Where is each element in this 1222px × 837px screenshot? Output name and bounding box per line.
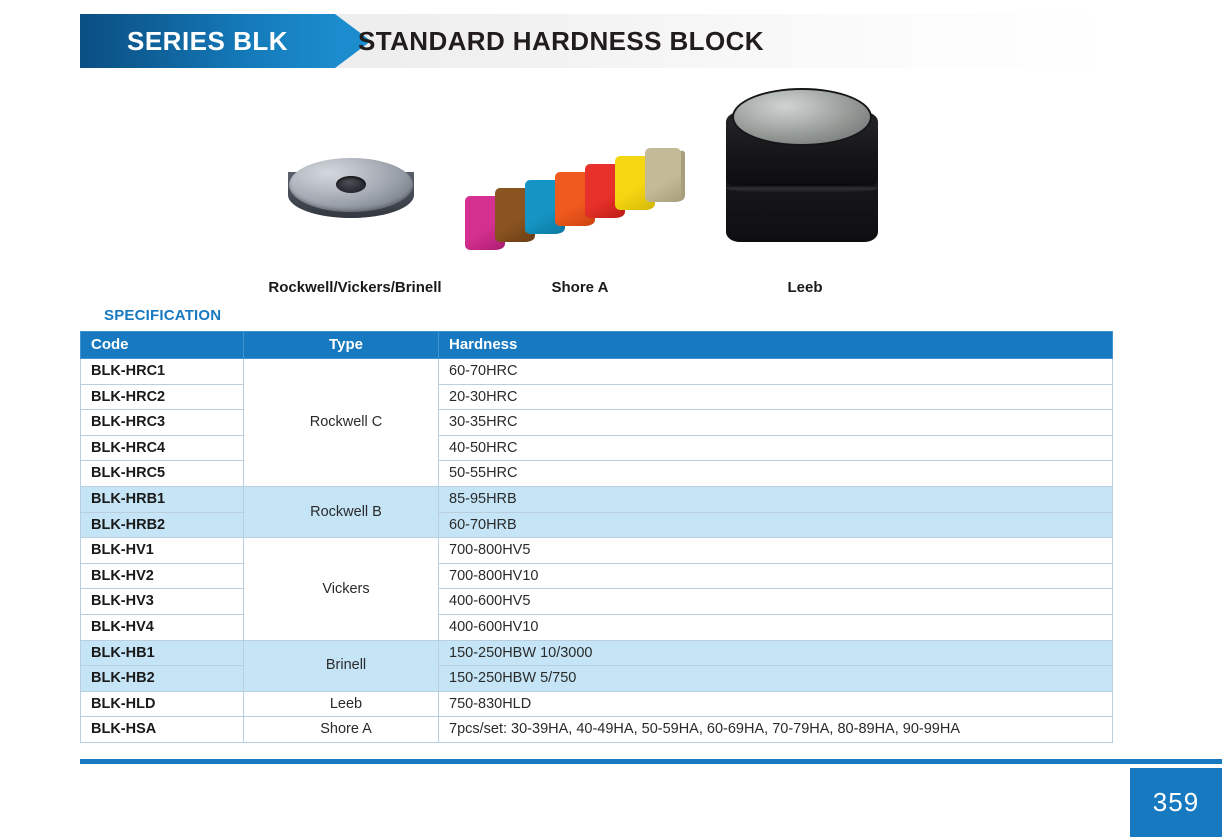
cell-hardness: 40-50HRC [439,435,1113,461]
table-row: BLK-HB1Brinell150-250HBW 10/3000 [81,640,1113,666]
cell-hardness: 20-30HRC [439,384,1113,410]
cell-code: BLK-HRC1 [81,359,244,385]
cell-type: Vickers [244,538,439,640]
table-row: BLK-HRC220-30HRC [81,384,1113,410]
cell-code: BLK-HRB2 [81,512,244,538]
table-row: BLK-HV1Vickers700-800HV5 [81,538,1113,564]
cell-code: BLK-HV3 [81,589,244,615]
column-header-code: Code [81,332,244,359]
cell-hardness: 150-250HBW 10/3000 [439,640,1113,666]
cell-code: BLK-HV4 [81,614,244,640]
cell-code: BLK-HB2 [81,666,244,692]
disc-center-hole [336,176,366,193]
cell-type: Leeb [244,691,439,717]
specification-heading: SPECIFICATION [104,307,221,324]
series-label: SERIES BLK [80,14,335,68]
table-row: BLK-HV4400-600HV10 [81,614,1113,640]
page-header-banner: SERIES BLK STANDARD HARDNESS BLOCK [80,14,1112,68]
cell-code: BLK-HB1 [81,640,244,666]
specification-table-container: Code Type Hardness BLK-HRC1Rockwell C60-… [80,331,1112,743]
leeb-polished-top-face [732,88,872,146]
leeb-groove [726,184,878,192]
leeb-block-image [720,82,890,257]
cell-code: BLK-HRC2 [81,384,244,410]
cell-hardness: 60-70HRB [439,512,1113,538]
table-row: BLK-HSAShore A7pcs/set: 30-39HA, 40-49HA… [81,717,1113,743]
cell-code: BLK-HV2 [81,563,244,589]
table-row: BLK-HRC330-35HRC [81,410,1113,436]
caption-rockwell-vickers-brinell: Rockwell/Vickers/Brinell [230,279,480,296]
cell-code: BLK-HRC5 [81,461,244,487]
cell-hardness: 700-800HV10 [439,563,1113,589]
table-body: BLK-HRC1Rockwell C60-70HRCBLK-HRC220-30H… [81,359,1113,743]
cell-code: BLK-HLD [81,691,244,717]
table-row: BLK-HRB1Rockwell B85-95HRB [81,486,1113,512]
page-number-text: 359 [1153,787,1199,818]
table-row: BLK-HLDLeeb750-830HLD [81,691,1113,717]
cell-type: Brinell [244,640,439,691]
table-row: BLK-HRC440-50HRC [81,435,1113,461]
page-number-badge: 359 [1130,768,1222,837]
table-row: BLK-HRB260-70HRB [81,512,1113,538]
cell-hardness: 7pcs/set: 30-39HA, 40-49HA, 50-59HA, 60-… [439,717,1113,743]
table-row: BLK-HRC550-55HRC [81,461,1113,487]
shore-a-block-set-image [465,144,695,249]
cell-code: BLK-HSA [81,717,244,743]
cell-hardness: 150-250HBW 5/750 [439,666,1113,692]
cell-hardness: 700-800HV5 [439,538,1113,564]
shore-a-block-7-face [645,148,681,202]
cell-code: BLK-HRC4 [81,435,244,461]
product-gallery: Rockwell/Vickers/Brinell Shore A Leeb [80,74,1112,304]
column-header-type: Type [244,332,439,359]
cell-type: Rockwell C [244,359,439,487]
cell-hardness: 400-600HV5 [439,589,1113,615]
caption-leeb: Leeb [730,279,880,296]
page-title: STANDARD HARDNESS BLOCK [358,14,764,68]
rockwell-vickers-brinell-block-image [280,150,428,242]
table-row: BLK-HV2700-800HV10 [81,563,1113,589]
footer-divider-rule [80,759,1222,764]
table-row: BLK-HB2150-250HBW 5/750 [81,666,1113,692]
shore-a-block-7 [645,148,687,202]
cell-code: BLK-HRC3 [81,410,244,436]
table-header-row: Code Type Hardness [81,332,1113,359]
cell-type: Shore A [244,717,439,743]
cell-code: BLK-HV1 [81,538,244,564]
specification-table: Code Type Hardness BLK-HRC1Rockwell C60-… [80,331,1113,743]
cell-type: Rockwell B [244,486,439,537]
cell-code: BLK-HRB1 [81,486,244,512]
cell-hardness: 50-55HRC [439,461,1113,487]
table-row: BLK-HRC1Rockwell C60-70HRC [81,359,1113,385]
cell-hardness: 30-35HRC [439,410,1113,436]
cell-hardness: 400-600HV10 [439,614,1113,640]
table-row: BLK-HV3400-600HV5 [81,589,1113,615]
caption-shore-a: Shore A [480,279,680,296]
table-header: Code Type Hardness [81,332,1113,359]
column-header-hardness: Hardness [439,332,1113,359]
cell-hardness: 60-70HRC [439,359,1113,385]
cell-hardness: 750-830HLD [439,691,1113,717]
cell-hardness: 85-95HRB [439,486,1113,512]
